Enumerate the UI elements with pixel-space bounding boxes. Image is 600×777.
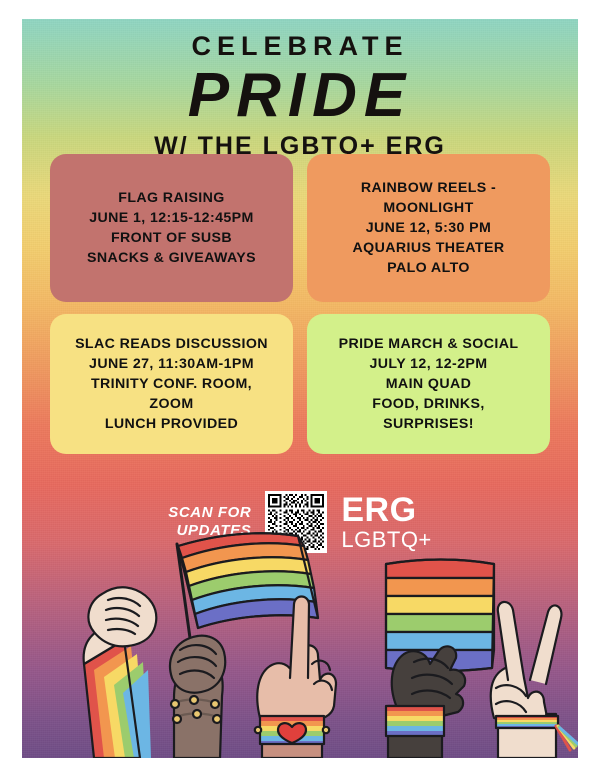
poster-headline: CELEBRATE PRIDE W/ THE LGBTQ+ ERG	[22, 33, 578, 159]
event-card-slac-reads[interactable]: SLAC READS DISCUSSION JUNE 27, 11:30AM-1…	[50, 314, 293, 454]
event-line: JUNE 12, 5:30 PM	[366, 218, 491, 238]
event-line: FRONT OF SUSB	[111, 228, 232, 248]
event-line: RAINBOW REELS -	[361, 178, 496, 198]
event-card-rainbow-reels[interactable]: RAINBOW REELS - MOONLIGHT JUNE 12, 5:30 …	[307, 154, 550, 302]
headline-pride: PRIDE	[22, 63, 578, 128]
event-line: SURPRISES!	[383, 414, 474, 434]
event-cards: FLAG RAISING JUNE 1, 12:15-12:45PM FRONT…	[50, 154, 550, 454]
event-line: SNACKS & GIVEAWAYS	[87, 248, 256, 268]
hand-pointing-up-heart-band	[255, 597, 336, 759]
event-card-row-2: SLAC READS DISCUSSION JUNE 27, 11:30AM-1…	[50, 314, 550, 454]
event-line: PALO ALTO	[387, 258, 470, 278]
raised-hands-pride-illustration	[22, 528, 578, 758]
event-card-flag-raising[interactable]: FLAG RAISING JUNE 1, 12:15-12:45PM FRONT…	[50, 154, 293, 302]
event-card-pride-march[interactable]: PRIDE MARCH & SOCIAL JULY 12, 12-2PM MAI…	[307, 314, 550, 454]
event-line: AQUARIUS THEATER	[353, 238, 505, 258]
event-line: FLAG RAISING	[118, 188, 224, 208]
event-line: FOOD, DRINKS,	[372, 394, 484, 414]
event-card-row-1: FLAG RAISING JUNE 1, 12:15-12:45PM FRONT…	[50, 154, 550, 302]
hand-holding-rainbow-sign	[386, 560, 494, 759]
hand-peace-sign	[491, 602, 578, 758]
scan-label-line1: SCAN FOR	[168, 504, 251, 522]
event-line: LUNCH PROVIDED	[105, 414, 238, 434]
event-line: PRIDE MARCH & SOCIAL	[339, 334, 519, 354]
headline-celebrate: CELEBRATE	[22, 33, 578, 60]
event-line: MOONLIGHT	[383, 198, 473, 218]
event-line: ZOOM	[149, 394, 193, 414]
event-line: MAIN QUAD	[386, 374, 472, 394]
event-line: JULY 12, 12-2PM	[370, 354, 488, 374]
event-line: SLAC READS DISCUSSION	[75, 334, 268, 354]
event-line: TRINITY CONF. ROOM,	[91, 374, 252, 394]
hand-raised-fist	[84, 587, 157, 758]
event-line: JUNE 27, 11:30AM-1PM	[89, 354, 254, 374]
event-line: JUNE 1, 12:15-12:45PM	[89, 208, 254, 228]
erg-logo-main: ERG	[341, 493, 431, 527]
poster-page: CELEBRATE PRIDE W/ THE LGBTQ+ ERG FLAG R…	[0, 0, 600, 777]
pride-poster: CELEBRATE PRIDE W/ THE LGBTQ+ ERG FLAG R…	[22, 19, 578, 758]
